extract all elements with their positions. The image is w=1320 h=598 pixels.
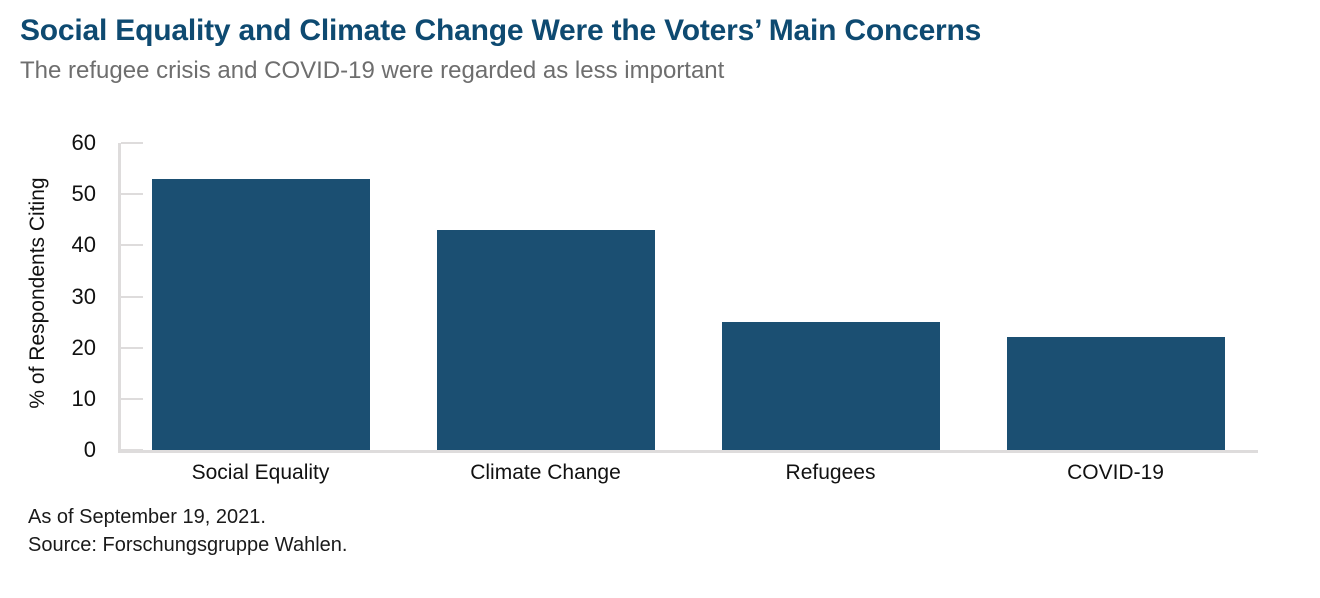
x-axis-line (118, 450, 1258, 453)
y-axis-tick-mark (121, 398, 143, 400)
y-axis-tick-mark (121, 449, 143, 451)
y-axis-tick-label: 60 (0, 132, 96, 154)
y-axis-tick-mark (121, 347, 143, 349)
y-axis-tick-mark (121, 244, 143, 246)
source-note: Source: Forschungsgruppe Wahlen. (28, 532, 347, 560)
bar (722, 322, 940, 450)
x-axis-tick-label: COVID-19 (973, 462, 1258, 483)
bar (437, 230, 655, 450)
x-axis-tick-label: Social Equality (118, 462, 403, 483)
y-axis-tick-label: 30 (0, 286, 96, 308)
y-axis-tick-mark (121, 142, 143, 144)
x-axis-tick-label: Climate Change (403, 462, 688, 483)
y-axis-tick-label: 40 (0, 234, 96, 256)
y-axis-tick-mark (121, 193, 143, 195)
as-of-note: As of September 19, 2021. (28, 504, 347, 532)
chart-footnotes: As of September 19, 2021. Source: Forsch… (28, 504, 347, 559)
bar (152, 179, 370, 450)
y-axis-tick-mark (121, 296, 143, 298)
y-axis-tick-label: 10 (0, 388, 96, 410)
y-axis-tick-label: 20 (0, 337, 96, 359)
y-axis-tick-label: 50 (0, 183, 96, 205)
x-axis-tick-label: Refugees (688, 462, 973, 483)
bar (1007, 337, 1225, 450)
plot-area (118, 143, 1258, 450)
y-axis-tick-label: 0 (0, 439, 96, 461)
